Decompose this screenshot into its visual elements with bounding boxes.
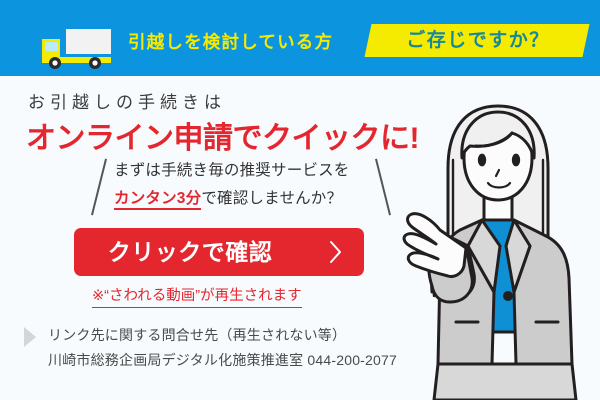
- contact-inquiry-label: リンク先に関する問合せ先（再生されない等）: [48, 325, 346, 345]
- bracket-left-line: [91, 159, 107, 216]
- headline-title: オンライン申請でクイックに!: [26, 113, 419, 157]
- triangle-right-icon: [24, 327, 36, 347]
- chevron-right-icon: [330, 241, 342, 263]
- bracket-highlight-text: カンタン3分: [114, 190, 201, 210]
- cta-click-to-confirm-button[interactable]: クリックで確認: [74, 228, 364, 276]
- bracket-rest-text: で確認しませんか？: [201, 190, 342, 207]
- bracket-message-block: まずは手続き毎の推奨サービスを カンタン3分で確認しませんか？: [92, 156, 392, 218]
- header-lead-text: 引越しを検討している方: [128, 30, 333, 54]
- moving-procedure-ad-banner: 引越しを検討している方 ご存じですか？ お引越しの手続きは オンライン申請でクイ…: [0, 0, 600, 400]
- header-badge-text: ご存じですか？: [374, 27, 582, 55]
- bracket-text-line2: カンタン3分で確認しませんか？: [114, 186, 342, 208]
- business-woman-waving-illustration: [396, 96, 600, 400]
- contact-department-phone: 川崎市総務企画局デジタル化施策推進室 044-200-2077: [48, 350, 397, 370]
- header-bar: 引越しを検討している方 ご存じですか？: [0, 0, 600, 76]
- moving-truck-icon: [38, 27, 114, 69]
- video-playback-note: ※“さわれる動画”が再生されます: [92, 284, 302, 308]
- bracket-text-line1: まずは手続き毎の推奨サービスを: [114, 158, 350, 180]
- headline-subtitle: お引越しの手続きは: [28, 88, 226, 113]
- bracket-right-line: [375, 159, 391, 216]
- cta-button-label: クリックで確認: [74, 228, 306, 276]
